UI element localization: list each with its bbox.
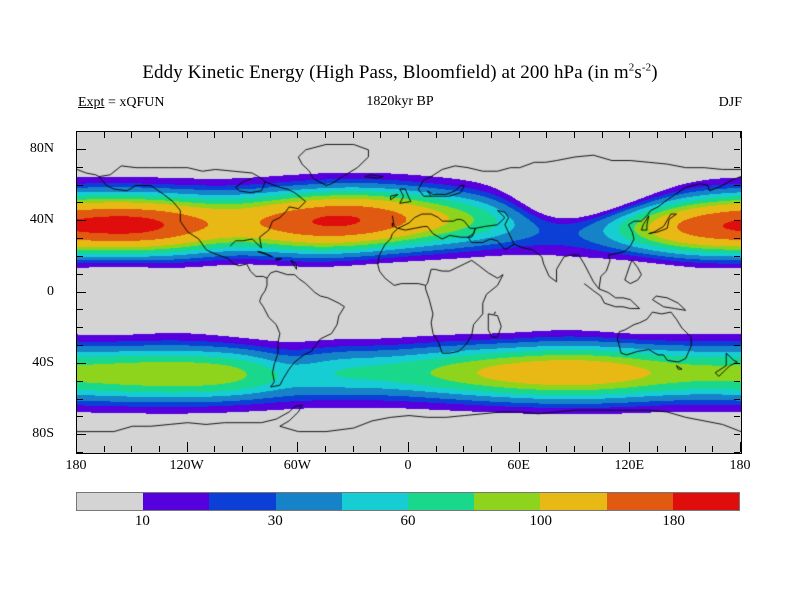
tick-mark — [629, 132, 630, 138]
tick-mark — [77, 345, 83, 346]
tick-mark — [77, 309, 83, 310]
tick-mark — [734, 185, 740, 186]
tick-mark — [546, 446, 547, 452]
tick-mark — [685, 132, 686, 138]
tick-mark — [76, 132, 77, 138]
tick-mark — [712, 132, 713, 138]
y-axis-label-0: 0 — [47, 284, 54, 300]
colorbar-swatch-cyan — [342, 493, 408, 510]
title-end-text: ) — [651, 62, 657, 83]
tick-mark — [77, 416, 83, 417]
y-major-tick — [77, 220, 86, 221]
tick-mark — [734, 274, 740, 275]
tick-mark — [734, 256, 740, 257]
tick-mark — [187, 132, 188, 138]
eke-contour-map — [77, 132, 741, 453]
tick-mark — [436, 132, 437, 138]
tick-mark — [734, 434, 740, 435]
tick-mark — [602, 446, 603, 452]
tick-mark — [77, 238, 83, 239]
tick-mark — [491, 446, 492, 452]
colorbar-swatch-orange — [607, 493, 673, 510]
x-major-tick — [297, 442, 298, 451]
tick-mark — [734, 167, 740, 168]
tick-mark — [242, 132, 243, 138]
tick-mark — [325, 132, 326, 138]
tick-mark — [242, 446, 243, 452]
title-main-text: Eddy Kinetic Energy (High Pass, Bloomfie… — [142, 62, 628, 83]
subtitle-period: 1820kyr BP — [0, 94, 800, 110]
tick-mark — [712, 446, 713, 452]
tick-mark — [104, 132, 105, 138]
tick-mark — [734, 149, 740, 150]
tick-mark — [657, 446, 658, 452]
tick-mark — [270, 446, 271, 452]
map-plot-area — [76, 131, 742, 454]
tick-mark — [734, 363, 740, 364]
tick-mark — [353, 132, 354, 138]
colorbar-swatch-medium-blue — [276, 493, 342, 510]
tick-mark — [77, 185, 83, 186]
colorbar-label-100: 100 — [530, 513, 553, 530]
y-axis-label-40S: 40S — [32, 355, 54, 371]
tick-mark — [574, 446, 575, 452]
x-axis-label-60W: 60W — [284, 458, 311, 474]
tick-mark — [325, 446, 326, 452]
figure-root: Eddy Kinetic Energy (High Pass, Bloomfie… — [0, 0, 800, 600]
x-major-tick — [519, 442, 520, 451]
tick-mark — [734, 131, 740, 132]
tick-mark — [77, 327, 83, 328]
tick-mark — [380, 446, 381, 452]
colorbar-swatch-blue — [209, 493, 275, 510]
tick-mark — [77, 131, 83, 132]
tick-mark — [159, 446, 160, 452]
tick-mark — [77, 399, 83, 400]
tick-mark — [77, 256, 83, 257]
tick-mark — [734, 416, 740, 417]
tick-mark — [131, 132, 132, 138]
tick-mark — [491, 132, 492, 138]
tick-mark — [353, 446, 354, 452]
tick-mark — [734, 452, 740, 453]
tick-mark — [214, 446, 215, 452]
tick-mark — [734, 381, 740, 382]
colorbar-swatch-yellow-green — [474, 493, 540, 510]
colorbar-swatch-grey — [77, 493, 143, 510]
tick-mark — [734, 327, 740, 328]
y-major-tick — [77, 434, 86, 435]
tick-mark — [380, 132, 381, 138]
tick-mark — [734, 202, 740, 203]
tick-mark — [463, 446, 464, 452]
tick-mark — [602, 132, 603, 138]
tick-mark — [734, 399, 740, 400]
tick-mark — [740, 132, 741, 138]
x-major-tick — [740, 442, 741, 451]
colorbar-swatch-red — [673, 493, 739, 510]
y-axis-label-80S: 80S — [32, 426, 54, 442]
tick-mark — [77, 274, 83, 275]
colorbar-label-60: 60 — [401, 513, 416, 530]
tick-mark — [574, 132, 575, 138]
colorbar — [76, 492, 740, 511]
title-superscript-minus-2: -2 — [642, 62, 651, 74]
x-axis-label-120W: 120W — [170, 458, 204, 474]
tick-mark — [657, 132, 658, 138]
tick-mark — [214, 132, 215, 138]
colorbar-swatch-gold — [540, 493, 606, 510]
tick-mark — [77, 381, 83, 382]
tick-mark — [546, 132, 547, 138]
tick-mark — [734, 309, 740, 310]
colorbar-swatch-green — [408, 493, 474, 510]
tick-mark — [77, 202, 83, 203]
tick-mark — [131, 446, 132, 452]
y-major-tick — [77, 363, 86, 364]
tick-mark — [408, 132, 409, 138]
title-mid-text: s — [634, 62, 642, 83]
season-label: DJF — [719, 95, 742, 111]
tick-mark — [519, 132, 520, 138]
x-axis-label-60E: 60E — [507, 458, 530, 474]
x-axis-label-180: 180 — [730, 458, 751, 474]
x-major-tick — [629, 442, 630, 451]
colorbar-label-30: 30 — [268, 513, 283, 530]
x-major-tick — [408, 442, 409, 451]
colorbar-label-10: 10 — [135, 513, 150, 530]
x-major-tick — [187, 442, 188, 451]
y-major-tick — [77, 149, 86, 150]
colorbar-label-180: 180 — [662, 513, 685, 530]
y-major-tick — [77, 292, 86, 293]
tick-mark — [270, 132, 271, 138]
x-major-tick — [76, 442, 77, 451]
x-axis-label-120E: 120E — [615, 458, 645, 474]
tick-mark — [104, 446, 105, 452]
tick-mark — [734, 292, 740, 293]
tick-mark — [734, 220, 740, 221]
tick-mark — [734, 345, 740, 346]
y-axis-label-40N: 40N — [30, 212, 54, 228]
tick-mark — [297, 132, 298, 138]
tick-mark — [685, 446, 686, 452]
tick-mark — [436, 446, 437, 452]
x-axis-label-0: 0 — [405, 458, 412, 474]
page-title: Eddy Kinetic Energy (High Pass, Bloomfie… — [0, 62, 800, 84]
tick-mark — [159, 132, 160, 138]
y-axis-label-80N: 80N — [30, 141, 54, 157]
tick-mark — [463, 132, 464, 138]
tick-mark — [77, 452, 83, 453]
tick-mark — [77, 167, 83, 168]
colorbar-swatch-violet — [143, 493, 209, 510]
tick-mark — [734, 238, 740, 239]
x-axis-label-180: 180 — [66, 458, 87, 474]
